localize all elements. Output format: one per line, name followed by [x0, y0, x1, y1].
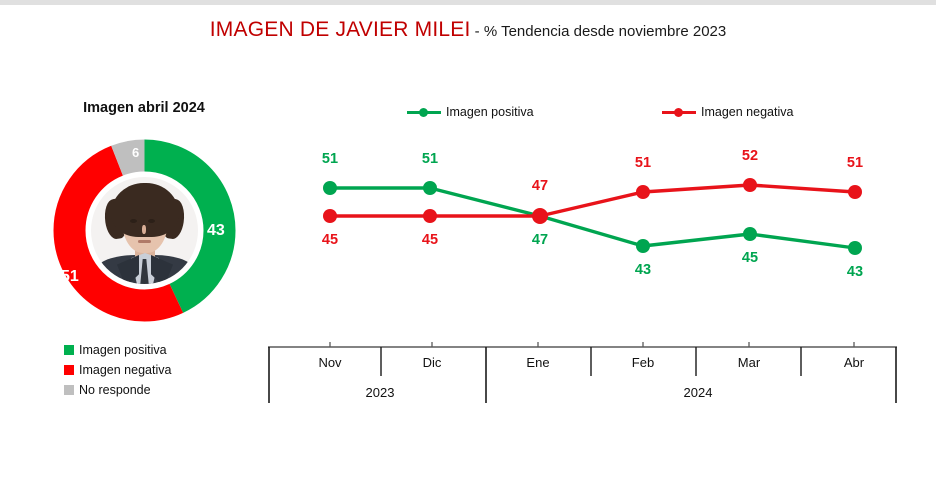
donut-value-negativa: 51	[61, 269, 79, 285]
title-subtitle-text: - % Tendencia desde noviembre 2023	[471, 23, 727, 40]
legend-marker-red	[662, 106, 696, 118]
data-label-positiva-abr: 43	[847, 265, 863, 280]
data-label-positiva-feb: 43	[635, 263, 651, 278]
legend-label: Imagen negativa	[701, 105, 793, 119]
legend-swatch-green	[64, 345, 74, 355]
data-label-negativa-mar: 52	[742, 149, 758, 164]
legend-label: Imagen positiva	[79, 343, 167, 357]
line-chart-svg	[262, 130, 922, 330]
donut-chart: 43 51 6	[47, 133, 242, 328]
axis-year-2024: 2024	[684, 385, 713, 400]
page-title: IMAGEN DE JAVIER MILEI - % Tendencia des…	[0, 18, 936, 42]
donut-value-no-responde: 6	[132, 146, 139, 159]
legend-swatch-gray	[64, 385, 74, 395]
axis-month-dic: Dic	[423, 355, 442, 370]
series-line-imagen-positiva	[330, 188, 855, 248]
x-axis-table-svg	[268, 341, 897, 404]
data-label-positiva-dic: 51	[422, 152, 438, 167]
legend-swatch-red	[64, 365, 74, 375]
legend-marker-green	[407, 106, 441, 118]
donut-chart-title: Imagen abril 2024	[28, 100, 260, 116]
legend-item-no-responde: No responde	[64, 380, 254, 400]
line-chart-legend: Imagen positiva Imagen negativa	[262, 102, 922, 124]
x-axis-table: Nov Dic Ene Feb Mar Abr 2023 2024	[268, 341, 897, 404]
donut-value-positiva: 43	[207, 223, 225, 239]
donut-chart-panel: Imagen abril 2024	[28, 100, 260, 440]
donut-legend: Imagen positiva Imagen negativa No respo…	[64, 340, 254, 400]
title-main-text: IMAGEN DE JAVIER MILEI	[210, 18, 471, 41]
legend-label: Imagen negativa	[79, 363, 171, 377]
axis-month-nov: Nov	[318, 355, 341, 370]
data-label-negativa-feb: 51	[635, 156, 651, 171]
data-label-negativa-dic: 45	[422, 233, 438, 248]
data-label-negativa-nov: 45	[322, 233, 338, 248]
line-chart-plot: 51 51 47 43 45 43 45 45 47 51 52 51	[262, 130, 922, 330]
legend-label: Imagen positiva	[446, 105, 534, 119]
axis-month-ene: Ene	[526, 355, 549, 370]
axis-month-abr: Abr	[844, 355, 864, 370]
legend-label: No responde	[79, 383, 151, 397]
top-gray-strip	[0, 0, 936, 5]
data-label-positiva-mar: 45	[742, 251, 758, 266]
data-label-positiva-nov: 51	[322, 152, 338, 167]
legend-item-imagen-positiva-line: Imagen positiva	[407, 102, 534, 122]
axis-month-mar: Mar	[738, 355, 760, 370]
legend-item-imagen-negativa: Imagen negativa	[64, 360, 254, 380]
axis-month-feb: Feb	[632, 355, 654, 370]
series-markers-imagen-positiva	[323, 181, 862, 255]
data-label-negativa-ene: 47	[532, 179, 548, 194]
axis-year-2023: 2023	[366, 385, 395, 400]
data-label-negativa-abr: 51	[847, 156, 863, 171]
avatar	[91, 177, 198, 284]
legend-item-imagen-negativa-line: Imagen negativa	[662, 102, 793, 122]
data-label-positiva-ene: 47	[532, 233, 548, 248]
legend-item-imagen-positiva: Imagen positiva	[64, 340, 254, 360]
